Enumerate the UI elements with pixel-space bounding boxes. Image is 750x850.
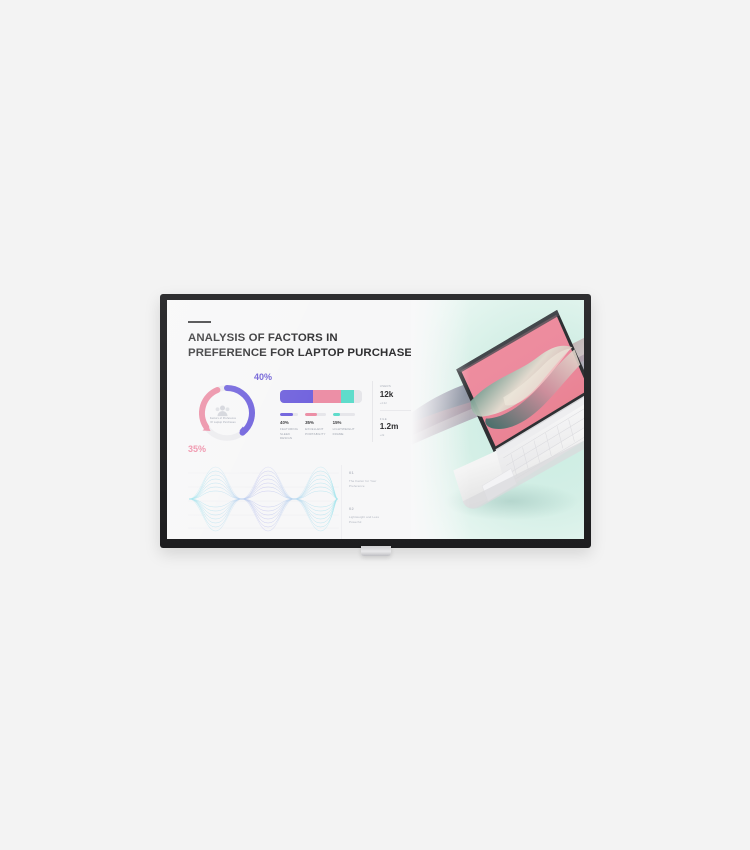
- metrics-row: Factors of PreferenceOf Laptop Purchases…: [188, 375, 411, 450]
- legend-fill: [305, 413, 317, 415]
- legend-percent: 40%: [280, 420, 298, 425]
- legend-track: [280, 413, 298, 415]
- title-rule-decoration: [188, 321, 211, 323]
- stacked-bar: [280, 390, 362, 403]
- stat-caption: USERS: [380, 384, 394, 388]
- legend-item: 40% FEATURINGSLEEK DESIGN: [280, 413, 305, 441]
- note-item-02: 02 Lightweight and LessPowerful: [349, 506, 411, 525]
- donut-label-35: 35%: [188, 444, 206, 454]
- stat-value: 12k: [380, 390, 394, 399]
- laptop-product-photo: [411, 300, 584, 539]
- legend-percent: 15%: [333, 420, 355, 425]
- stat-delta: +2k: [380, 433, 399, 437]
- legend-description: EXCELLENTPORTABILITY: [305, 427, 326, 436]
- stat-delta: +4.32: [380, 401, 394, 405]
- wave-section: 01 The Factor for YourPreference 02 Ligh…: [188, 465, 411, 539]
- bar-segment-teal: [341, 390, 353, 403]
- stacked-bar-block: 40% FEATURINGSLEEK DESIGN 35% EXCELLENTP…: [280, 390, 370, 441]
- wave-chart-svg: [188, 465, 339, 533]
- display-screen: ANALYSIS OF FACTORS IN PREFERENCE FOR LA…: [167, 300, 584, 539]
- legend-row: 40% FEATURINGSLEEK DESIGN 35% EXCELLENTP…: [280, 413, 362, 441]
- stat-value: 1.2m: [380, 422, 399, 431]
- donut-center-label: Factors of PreferenceOf Laptop Purchases: [202, 417, 244, 425]
- legend-percent: 35%: [305, 420, 326, 425]
- note-number: 02: [349, 506, 411, 511]
- legend-fill: [280, 413, 293, 415]
- legend-track: [333, 413, 355, 415]
- display-stand-nub: [361, 546, 391, 556]
- page-title-line-2: PREFERENCE FOR LAPTOP PURCHASES: [188, 346, 411, 361]
- users-icon: [215, 404, 230, 417]
- donut-chart: Factors of PreferenceOf Laptop Purchases…: [188, 375, 266, 450]
- note-number: 01: [349, 470, 411, 475]
- slide-right-panel: [411, 300, 584, 539]
- display-bezel: ANALYSIS OF FACTORS IN PREFERENCE FOR LA…: [160, 294, 591, 548]
- legend-fill: [333, 413, 341, 415]
- legend-item: 35% EXCELLENTPORTABILITY: [305, 413, 333, 441]
- laptop-illustration: [411, 300, 584, 539]
- slide-canvas: ANALYSIS OF FACTORS IN PREFERENCE FOR LA…: [167, 300, 584, 539]
- page-title-line-1: ANALYSIS OF FACTORS IN: [188, 331, 411, 346]
- notes-column: 01 The Factor for YourPreference 02 Ligh…: [341, 465, 411, 539]
- note-text: Lightweight and LessPowerful: [349, 515, 411, 525]
- legend-item: 15% LIGHTWEIGHTFRAME: [333, 413, 362, 441]
- legend-description: FEATURINGSLEEK DESIGN: [280, 427, 298, 441]
- donut-label-40: 40%: [254, 372, 272, 382]
- bar-segment-pink: [313, 390, 342, 403]
- stat-caption: FILE: [380, 417, 399, 421]
- wall-display-unit: ANALYSIS OF FACTORS IN PREFERENCE FOR LA…: [160, 294, 591, 548]
- legend-track: [305, 413, 326, 415]
- slide-left-panel: ANALYSIS OF FACTORS IN PREFERENCE FOR LA…: [167, 300, 411, 539]
- bar-segment-purple: [280, 390, 313, 403]
- legend-description: LIGHTWEIGHTFRAME: [333, 427, 355, 436]
- donut-segment-purple: [227, 388, 252, 433]
- wave-chart: [188, 465, 339, 533]
- bar-segment-track: [354, 390, 362, 403]
- note-text: The Factor for YourPreference: [349, 479, 411, 489]
- note-item-01: 01 The Factor for YourPreference: [349, 470, 411, 489]
